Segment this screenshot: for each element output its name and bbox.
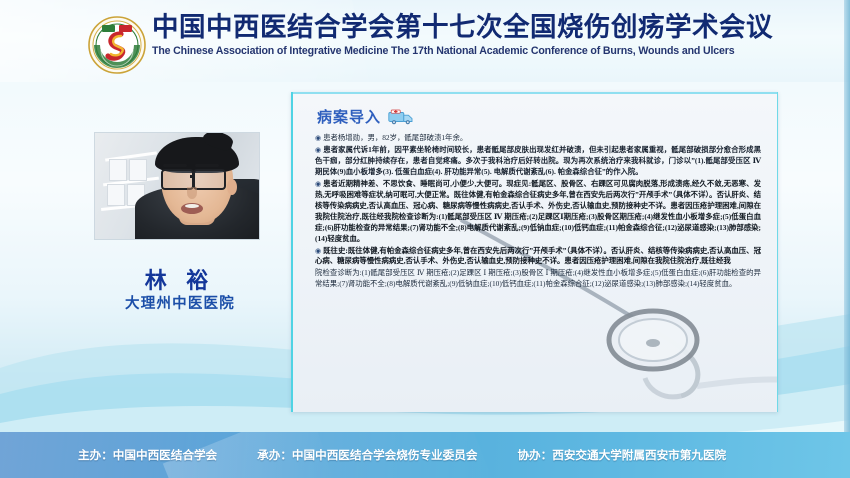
slide-paragraph: ◉既往史:既往体健,有帕金森综合征病史多年,曾在西安先后两次行”开颅手术”（具体… <box>315 246 761 268</box>
speaker-ear <box>227 179 237 195</box>
conference-title-en: The Chinese Association of Integrative M… <box>152 45 842 57</box>
slide-top-accent <box>293 92 777 94</box>
slide-paragraph: ◉患者近期精神差、不思饮食、睡眠尚可,小便少,大便可。现症见:骶尾区、股骨区、右… <box>315 179 761 245</box>
ambulance-icon <box>388 109 415 125</box>
slide-paragraph: ◉患者家属代诉1年前，因平素坐轮椅时间较长，患者骶尾部皮肤出现发红并破溃，但未引… <box>315 145 761 178</box>
right-edge-gradient <box>844 0 850 432</box>
glasses-icon <box>193 169 226 190</box>
slide-body-text: ◉患者杨增勋，男，82岁，骶尾部破溃1年余。 ◉患者家属代诉1年前，因平素坐轮椅… <box>315 133 761 291</box>
slide-paragraph-text: 患者杨增勋，男，82岁，骶尾部破溃1年余。 <box>323 133 467 142</box>
speaker-eyebrow <box>163 164 187 167</box>
speaker-name: 林 裕 <box>95 263 265 295</box>
bullet-glyph: ◉ <box>315 145 321 155</box>
cait-emblem-icon <box>88 16 146 74</box>
presentation-slide[interactable]: 病案导入 ◉患者杨增勋，男，82岁，骶尾部破溃1年余。 ◉患者家属代诉1年前，因… <box>291 92 778 412</box>
conference-title-cn: 中国中西医结合学会第十七次全国烧伤创疡学术会议 <box>152 12 842 42</box>
slide-title: 病案导入 <box>317 106 381 127</box>
slide-title-row: 病案导入 <box>317 106 415 127</box>
header-text-block: 中国中西医结合学会第十七次全国烧伤创疡学术会议 The Chinese Asso… <box>152 12 842 57</box>
slide-paragraph-text: 院检查诊断为:(1)骶尾部受压区 Ⅳ 期压疮;(2)足踝区 Ⅰ 期压疮;(3)股… <box>315 268 761 288</box>
slide-paragraph-text: 患者家属代诉1年前，因平素坐轮椅时间较长，患者骶尾部皮肤出现发红并破溃，但未引起… <box>315 145 761 176</box>
video-wall-panel <box>107 184 125 206</box>
conference-broadcast-screen: 中国中西医结合学会第十七次全国烧伤创疡学术会议 The Chinese Asso… <box>0 0 850 478</box>
footer-organizer: 主办：中国中西医结合学会 <box>78 447 217 463</box>
footer-coorganizer: 协办：西安交通大学附属西安市第九医院 <box>517 447 726 463</box>
video-wall-panel <box>129 159 147 181</box>
speaker-video-feed[interactable] <box>95 133 259 239</box>
slide-paragraph-text: 患者近期精神差、不思饮食、睡眠尚可,小便少,大便可。现症见:骶尾区、股骨区、右踝… <box>315 179 761 243</box>
footer-undertaker: 承办：中国中西医结合学会烧伤专业委员会 <box>257 447 477 463</box>
video-wall-panel <box>109 159 127 181</box>
conference-footer: 主办：中国中西医结合学会 承办：中国中西医结合学会烧伤专业委员会 协办：西安交通… <box>0 432 850 478</box>
glasses-bridge <box>190 175 195 178</box>
bullet-glyph: ◉ <box>315 133 321 143</box>
slide-paragraph: ◉患者杨增勋，男，82岁，骶尾部破溃1年余。 <box>315 133 761 144</box>
speaker-organization: 大理州中医医院 <box>90 292 270 313</box>
bullet-glyph: ◉ <box>315 179 321 189</box>
speaker-mouth <box>181 203 203 214</box>
footer-items: 主办：中国中西医结合学会 承办：中国中西医结合学会烧伤专业委员会 协办：西安交通… <box>0 432 850 478</box>
slide-paragraph: 院检查诊断为:(1)骶尾部受压区 Ⅳ 期压疮;(2)足踝区 Ⅰ 期压疮;(3)股… <box>315 268 761 290</box>
conference-header: 中国中西医结合学会第十七次全国烧伤创疡学术会议 The Chinese Asso… <box>0 0 850 82</box>
slide-paragraph-text: 既往史:既往体健,有帕金森综合征病史多年,曾在西安先后两次行”开颅手术”（具体不… <box>315 246 761 266</box>
speaker-eyebrow <box>195 164 219 167</box>
bullet-glyph: ◉ <box>315 246 321 256</box>
speaker-nose <box>187 187 197 199</box>
